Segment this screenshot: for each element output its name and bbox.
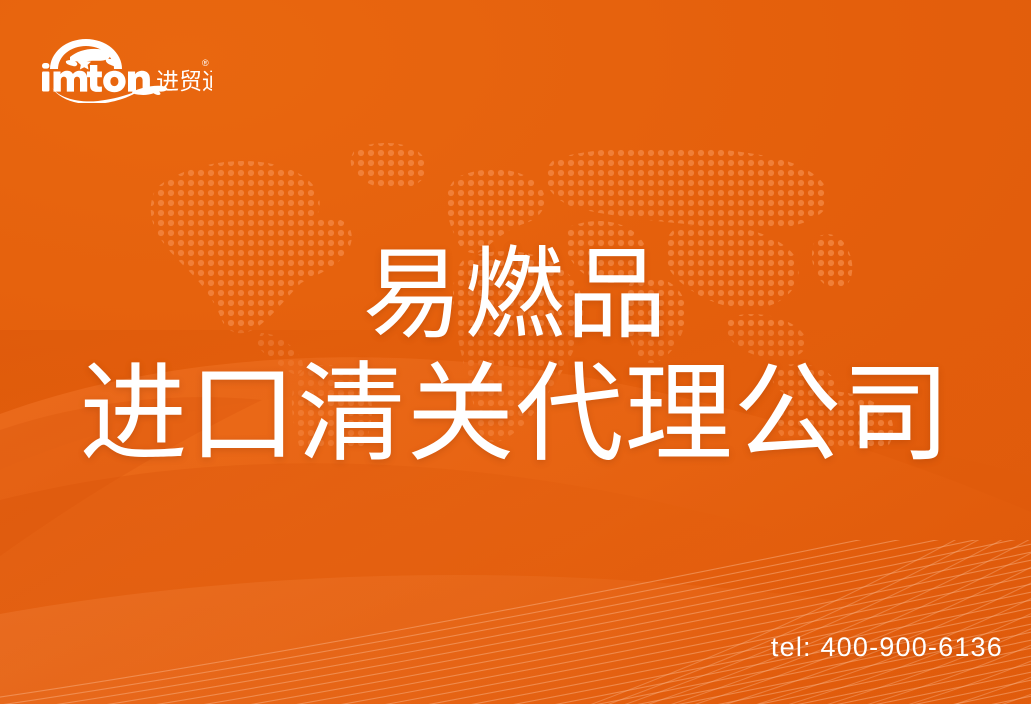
headline-line-1: 易燃品 [0,240,1031,350]
globe-arc-icon [50,39,122,70]
imton-logo[interactable]: 进贸通 ® [36,33,212,103]
contact-phone[interactable]: tel: 400-900-6136 [771,632,1003,663]
logo-svg: 进贸通 ® [36,33,212,103]
logo-wordmark-imton [42,63,150,92]
headline-line-2: 进口清关代理公司 [0,355,1031,473]
trademark-symbol: ® [202,58,209,68]
logo-chinese-name: 进贸通 [156,69,212,95]
promo-banner: 进贸通 ® 易燃品 进口清关代理公司 tel: 400-900-6136 [0,0,1031,704]
